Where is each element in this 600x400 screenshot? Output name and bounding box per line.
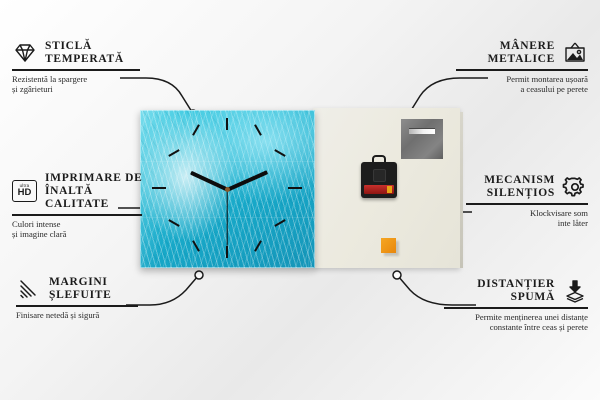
arrow-down-layers-icon [562, 279, 588, 303]
feature-subtitle: Permite menținerea unei distanțe constan… [444, 312, 588, 333]
feature-rule [12, 214, 142, 216]
feature-title: MARGINI ȘLEFUITE [49, 276, 111, 302]
feature-title: STICLĂ TEMPERATĂ [45, 40, 124, 66]
feature-title: DISTANȚIER SPUMĂ [477, 278, 555, 304]
picture-frame-icon [562, 41, 588, 65]
feature-rule [12, 69, 140, 71]
feature-subtitle: Klockvisare som inte låter [466, 208, 588, 229]
metal-hanger-plate [401, 119, 443, 159]
second-hand [226, 190, 227, 246]
feature-subtitle: Culori intense și imagine clară [12, 219, 144, 240]
feature-subtitle: Permit montarea ușoară a ceasului pe per… [456, 74, 588, 95]
foam-spacer-pad [381, 238, 396, 253]
hour-marker [226, 246, 228, 258]
feature-metal-handles: MÂNERE METALICE Permit montarea ușoară a… [456, 40, 588, 95]
feature-title: IMPRIMARE DE ÎNALTĂ CALITATE [45, 172, 144, 211]
clock-back-panel [313, 108, 460, 268]
clock-mechanism [361, 162, 397, 198]
hanger-slot [409, 128, 435, 134]
hour-marker [152, 187, 166, 189]
mechanism-shaft [373, 169, 386, 182]
hd-badge-main: HD [18, 188, 32, 198]
hatch-lines-icon [16, 277, 42, 301]
ultra-hd-icon: ultra HD [12, 180, 38, 204]
feature-rule [466, 203, 588, 205]
infographic-canvas: STICLĂ TEMPERATĂ Rezistentă la spargere … [0, 0, 600, 400]
mechanism-hanging-loop [372, 155, 386, 164]
battery [364, 185, 394, 194]
feature-silent-mechanism: MECANISM SILENȚIOS Klockvisare som inte … [466, 174, 588, 229]
feature-title: MECANISM SILENȚIOS [484, 174, 555, 200]
feature-tempered-glass: STICLĂ TEMPERATĂ Rezistentă la spargere … [12, 40, 142, 95]
hour-marker [288, 187, 302, 189]
feature-rule [456, 69, 588, 71]
feature-subtitle: Finisare netedă și sigură [16, 310, 140, 321]
diamond-icon [12, 41, 38, 65]
clock-face [140, 110, 315, 268]
product-image [140, 108, 460, 273]
feature-rule [444, 307, 588, 309]
feature-title: MÂNERE METALICE [488, 40, 555, 66]
feature-polished-edges: MARGINI ȘLEFUITE Finisare netedă și sigu… [16, 276, 140, 320]
feature-subtitle: Rezistentă la spargere și zgârieturi [12, 74, 142, 95]
gear-icon [562, 175, 588, 199]
hour-marker [226, 118, 228, 130]
feature-foam-spacer: DISTANȚIER SPUMĂ Permite menținerea unei… [444, 278, 588, 333]
feature-rule [16, 305, 138, 307]
feature-high-quality-print: ultra HD IMPRIMARE DE ÎNALTĂ CALITATE Cu… [12, 172, 144, 240]
hand-pivot [225, 187, 230, 192]
